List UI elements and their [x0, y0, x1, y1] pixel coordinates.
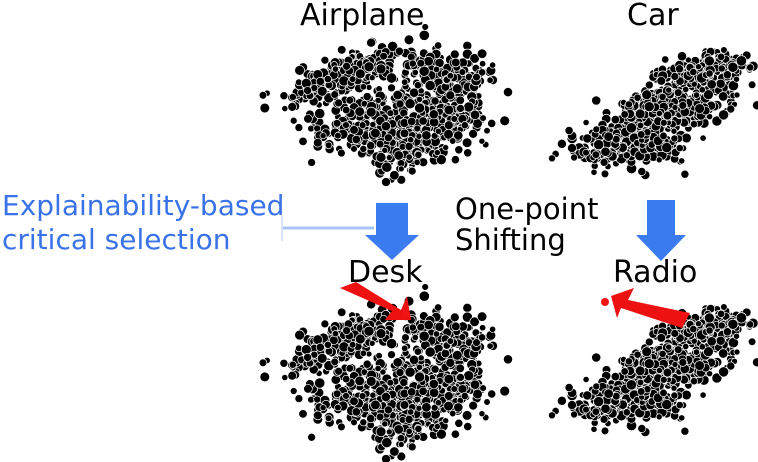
shifted-point-left: [402, 309, 410, 317]
point-cloud-airplane-adversarial: [259, 284, 513, 462]
point-cloud-car-original: [548, 47, 758, 180]
label-desk: Desk: [348, 255, 423, 290]
transform-arrow-left-icon: [365, 203, 419, 260]
transform-arrow-right-icon: [636, 200, 686, 261]
method-label-line1: Explainability-based: [2, 189, 284, 223]
one-point-line1: One-point: [455, 194, 598, 225]
point-cloud-car-adversarial: [548, 304, 758, 437]
method-label-one-point-shifting: One-point Shifting: [455, 194, 598, 256]
one-point-line2: Shifting: [455, 225, 598, 256]
method-label-line2: critical selection: [2, 223, 284, 257]
label-airplane: Airplane: [300, 0, 424, 33]
shifted-point-arrow-right-icon: [611, 288, 690, 328]
label-radio: Radio: [613, 255, 697, 290]
method-label-critical-selection: Explainability-based critical selection: [2, 189, 284, 257]
label-car: Car: [627, 0, 679, 33]
point-cloud-airplane-original: [259, 24, 513, 187]
figure-canvas: Airplane Car Desk Radio Explainability-b…: [0, 0, 758, 462]
shifted-point-right: [601, 298, 609, 306]
